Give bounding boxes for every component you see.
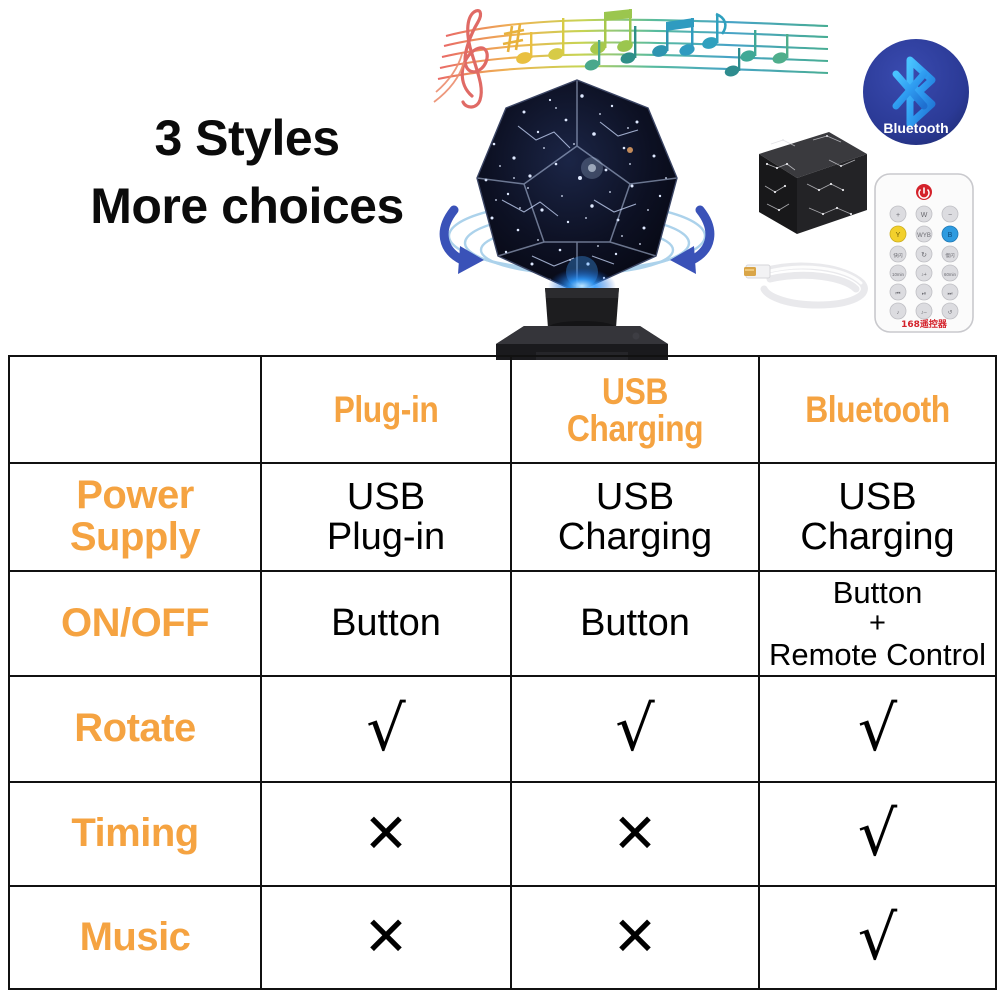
cell-timing-plugin: ✕ bbox=[261, 782, 511, 886]
svg-text:⏯: ⏯ bbox=[922, 291, 926, 297]
row-label-power-line-2: Supply bbox=[14, 517, 256, 559]
svg-text:⏭: ⏭ bbox=[948, 291, 953, 297]
check-icon: √ bbox=[858, 806, 898, 862]
header-plugin-line-1: Plug-in bbox=[283, 391, 489, 428]
row-label-timing: Timing bbox=[9, 782, 261, 886]
header-bluetooth-line-1: Bluetooth bbox=[780, 391, 975, 428]
header-cell-plugin: Plug-in bbox=[261, 356, 511, 463]
check-icon: √ bbox=[858, 701, 898, 757]
star-projector-lamp-image bbox=[432, 60, 722, 360]
cell-music-usb: ✕ bbox=[511, 886, 759, 989]
svg-text:60min: 60min bbox=[944, 272, 957, 277]
svg-text:♪+: ♪+ bbox=[921, 272, 927, 278]
svg-text:+: + bbox=[896, 212, 900, 219]
cell-rotate-plugin: √ bbox=[261, 676, 511, 782]
cell-power-bluetooth: USB Charging bbox=[759, 463, 996, 571]
svg-text:快闪: 快闪 bbox=[893, 252, 903, 259]
cross-icon: ✕ bbox=[363, 810, 408, 859]
cell-timing-bluetooth: √ bbox=[759, 782, 996, 886]
cell-music-bluetooth: √ bbox=[759, 886, 996, 989]
hero-product-area: 3 Styles More choices bbox=[0, 0, 1000, 355]
svg-text:B: B bbox=[948, 232, 953, 239]
table-row-onoff: ON/OFF Button Button Button + Remote Con… bbox=[9, 571, 996, 676]
gift-box-image bbox=[737, 124, 869, 242]
row-label-power-supply: Power Supply bbox=[9, 463, 261, 571]
cell-music-plugin: ✕ bbox=[261, 886, 511, 989]
table-row-timing: Timing ✕ ✕ √ bbox=[9, 782, 996, 886]
usb-cable-image bbox=[740, 245, 880, 317]
cell-rotate-usb: √ bbox=[511, 676, 759, 782]
header-cell-blank bbox=[9, 356, 261, 463]
svg-text:W: W bbox=[921, 212, 928, 219]
cell-power-plugin: USB Plug-in bbox=[261, 463, 511, 571]
product-comparison-infographic: 3 Styles More choices bbox=[0, 0, 1000, 1000]
check-icon: √ bbox=[366, 701, 406, 757]
svg-text:Y: Y bbox=[896, 232, 901, 239]
header-usb-line-2: Charging bbox=[533, 410, 738, 447]
svg-text:慢闪: 慢闪 bbox=[945, 252, 955, 259]
header-cell-bluetooth: Bluetooth bbox=[759, 356, 996, 463]
svg-text:↻: ↻ bbox=[921, 252, 927, 259]
remote-control-image: +W− YWYBB 快闪↻慢闪 10min♪+60min ⏮⏯⏭ ♪♪−↺ 16… bbox=[872, 172, 976, 334]
row-label-power-line-1: Power bbox=[14, 475, 256, 517]
spec-comparison-table: Plug-in USB Charging Bluetooth Power Sup bbox=[8, 355, 997, 990]
cell-timing-usb: ✕ bbox=[511, 782, 759, 886]
svg-text:↺: ↺ bbox=[948, 309, 953, 316]
table-row-music: Music ✕ ✕ √ bbox=[9, 886, 996, 989]
headline-line-2: More choices bbox=[52, 172, 442, 240]
header-usb-line-1: USB bbox=[533, 373, 738, 410]
svg-text:−: − bbox=[948, 212, 952, 219]
page-title: 3 Styles More choices bbox=[52, 104, 442, 240]
table-row-power-supply: Power Supply USB Plug-in USB Charging bbox=[9, 463, 996, 571]
svg-text:WYB: WYB bbox=[917, 233, 931, 239]
row-label-music: Music bbox=[9, 886, 261, 989]
svg-text:10min: 10min bbox=[892, 272, 905, 277]
cross-icon: ✕ bbox=[612, 810, 657, 859]
check-icon: √ bbox=[858, 910, 898, 966]
cell-onoff-plugin: Button bbox=[261, 571, 511, 676]
header-cell-usb-charging: USB Charging bbox=[511, 356, 759, 463]
bluetooth-badge: Bluetooth bbox=[862, 38, 970, 146]
svg-text:⏮: ⏮ bbox=[896, 291, 901, 297]
check-icon: √ bbox=[615, 701, 655, 757]
svg-text:♪: ♪ bbox=[897, 310, 900, 316]
svg-text:♪−: ♪− bbox=[921, 310, 927, 316]
row-label-onoff: ON/OFF bbox=[9, 571, 261, 676]
table-row-rotate: Rotate √ √ √ bbox=[9, 676, 996, 782]
cell-onoff-bluetooth: Button + Remote Control bbox=[759, 571, 996, 676]
headline-line-1: 3 Styles bbox=[52, 104, 442, 172]
cell-onoff-usb: Button bbox=[511, 571, 759, 676]
row-label-rotate: Rotate bbox=[9, 676, 261, 782]
cell-rotate-bluetooth: √ bbox=[759, 676, 996, 782]
cross-icon: ✕ bbox=[612, 913, 657, 962]
bluetooth-badge-label: Bluetooth bbox=[883, 120, 948, 136]
cell-power-usb: USB Charging bbox=[511, 463, 759, 571]
table-header-row: Plug-in USB Charging Bluetooth bbox=[9, 356, 996, 463]
remote-brand-label: 168遥控器 bbox=[901, 318, 948, 330]
cross-icon: ✕ bbox=[363, 913, 408, 962]
